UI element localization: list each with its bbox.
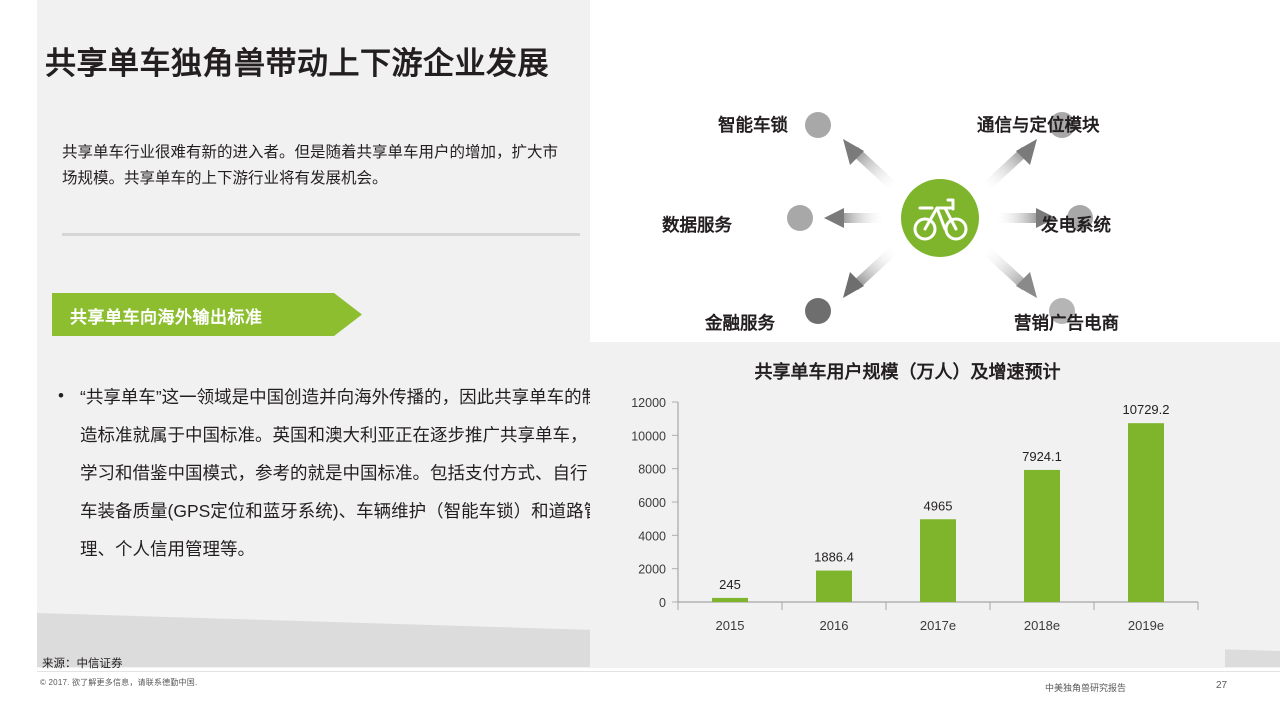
node-mid-left	[787, 205, 813, 231]
arrow-left	[824, 208, 886, 228]
bullet-marker: •	[58, 378, 80, 404]
page-title: 共享单车独角兽带动上下游企业发展	[45, 38, 549, 83]
bar-value-label: 1886.4	[814, 550, 854, 565]
diagram-label-finance: 金融服务	[705, 310, 775, 335]
node-bottom-left	[805, 298, 831, 324]
white-gutter-left	[0, 0, 37, 720]
x-axis-tick-label: 2015	[716, 618, 745, 633]
y-axis-tick-label: 8000	[638, 463, 666, 477]
intro-divider	[62, 233, 580, 236]
copyright-note: © 2017. 欲了解更多信息，请联系德勤中国.	[40, 677, 197, 688]
source-note: 来源：中信证券	[42, 655, 123, 671]
diagram-label-comm-module: 通信与定位模块	[977, 112, 1100, 137]
footer-divider	[37, 671, 1280, 672]
bullet-item: • “共享单车”这一领域是中国创造并向海外传播的，因此共享单车的制造标准就属于中…	[58, 378, 603, 568]
bar	[1128, 423, 1164, 602]
x-axis-tick-label: 2019e	[1128, 618, 1164, 633]
node-top-left	[805, 112, 831, 138]
bar	[920, 519, 956, 602]
x-axis-tick-label: 2017e	[920, 618, 956, 633]
arrow-down-left	[843, 247, 896, 298]
intro-paragraph: 共享单车行业很难有新的进入者。但是随着共享单车用户的增加，扩大市场规模。共享单车…	[62, 140, 562, 192]
bar	[712, 598, 748, 602]
chart-panel: 共享单车用户规模（万人）及增速预计 0200040006000800010000…	[590, 342, 1225, 668]
footer-page-number: 27	[1216, 680, 1227, 691]
bar-value-label: 10729.2	[1123, 402, 1170, 417]
y-axis-tick-label: 4000	[638, 529, 666, 543]
white-gutter-bottom	[0, 668, 1280, 720]
y-axis-tick-label: 6000	[638, 496, 666, 510]
section-banner-label: 共享单车向海外输出标准	[70, 303, 263, 328]
chart-title: 共享单车用户规模（万人）及增速预计	[590, 358, 1225, 384]
bar-chart: 02000400060008000100001200024520151886.4…	[590, 390, 1225, 650]
footer-report-name: 中美独角兽研究报告	[1045, 681, 1126, 694]
x-axis-tick-label: 2018e	[1024, 618, 1060, 633]
arrow-down-right	[984, 247, 1037, 298]
diagram-label-marketing: 营销广告电商	[1014, 310, 1119, 335]
bar-value-label: 7924.1	[1022, 449, 1062, 464]
x-axis-tick-label: 2016	[820, 618, 849, 633]
arrow-up-right	[984, 139, 1037, 190]
diagram-label-smart-lock: 智能车锁	[718, 112, 788, 137]
y-axis-tick-label: 0	[659, 596, 666, 610]
bar	[1024, 470, 1060, 602]
y-axis-tick-label: 10000	[631, 429, 666, 443]
bar	[816, 571, 852, 602]
arrow-up-left	[843, 139, 896, 190]
y-axis-tick-label: 12000	[631, 396, 666, 410]
diagram-label-data-service: 数据服务	[662, 212, 732, 237]
bar-value-label: 4965	[924, 498, 953, 513]
bullet-text: “共享单车”这一领域是中国创造并向海外传播的，因此共享单车的制造标准就属于中国标…	[80, 378, 603, 568]
diagram-label-power-system: 发电系统	[1041, 212, 1111, 237]
slide: 共享单车独角兽带动上下游企业发展 共享单车行业很难有新的进入者。但是随着共享单车…	[0, 0, 1280, 720]
bar-value-label: 245	[719, 577, 741, 592]
y-axis-tick-label: 2000	[638, 563, 666, 577]
